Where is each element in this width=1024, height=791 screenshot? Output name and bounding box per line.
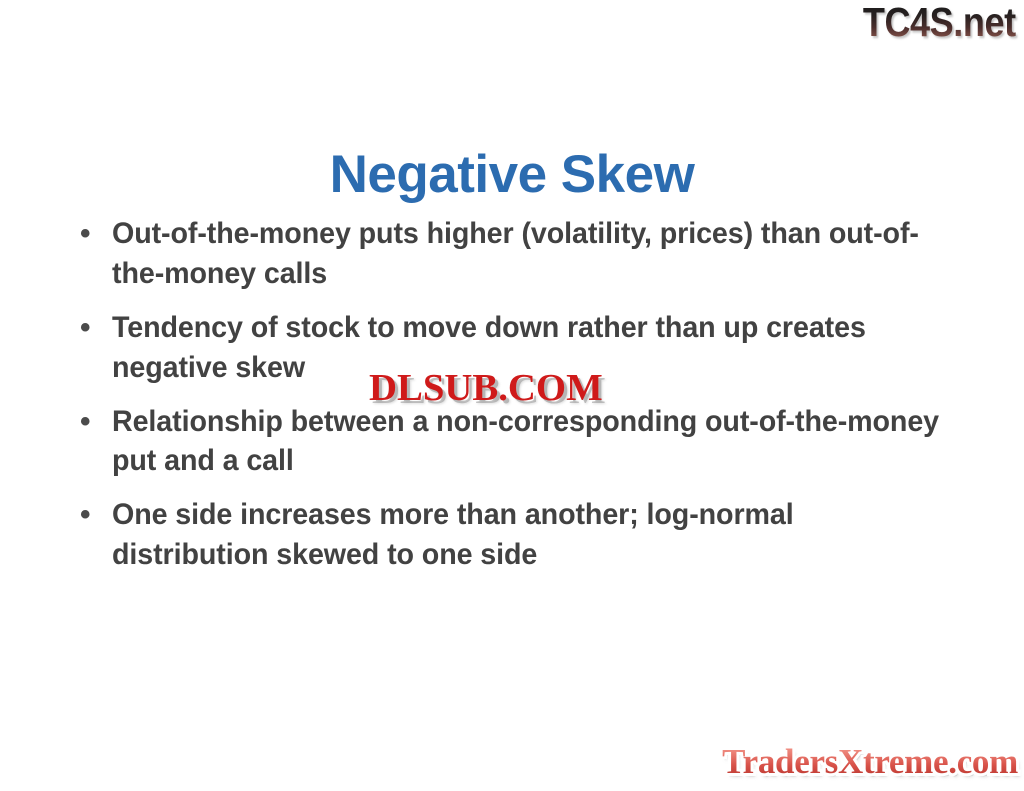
list-item: • One side increases more than another; … — [68, 495, 980, 575]
list-item: • Relationship between a non-correspondi… — [68, 402, 980, 482]
list-item: • Out-of-the-money puts higher (volatili… — [68, 214, 980, 294]
tc4s-brand-logo: TC4S.net — [863, 2, 1016, 43]
bullet-point-icon: • — [80, 308, 90, 348]
page-title: Negative Skew — [0, 148, 1024, 201]
bullet-point-icon: • — [80, 402, 90, 442]
list-item-label: One side increases more than another; lo… — [112, 495, 941, 575]
tradersxtreme-watermark-fill: TradersXtreme.com — [722, 742, 1018, 781]
list-item-label: Out-of-the-money puts higher (volatility… — [112, 214, 941, 294]
bullet-point-icon: • — [80, 495, 90, 535]
slide-canvas: TC4S.net Negative Skew • Out-of-the-mone… — [0, 0, 1024, 791]
bullet-point-icon: • — [80, 214, 90, 254]
list-item-label: Relationship between a non-corresponding… — [112, 402, 941, 482]
dlsub-watermark: DLSUB.COM — [369, 369, 603, 407]
tradersxtreme-watermark: TradersXtreme.com TradersXtreme.com — [722, 744, 1018, 779]
